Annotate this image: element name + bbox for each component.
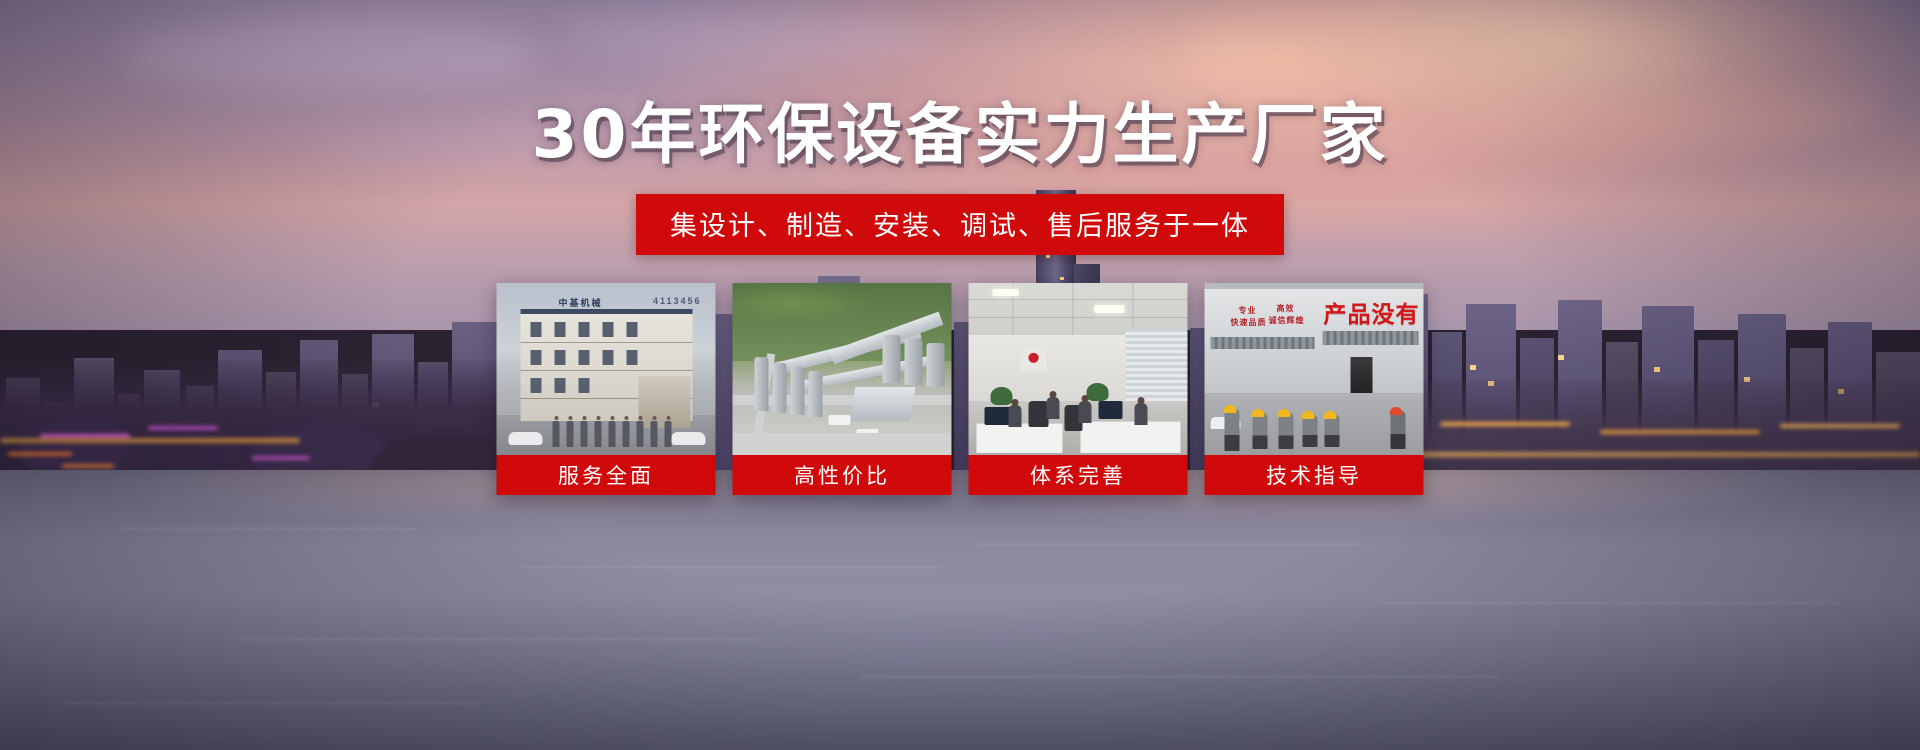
photo-factory-door (1351, 357, 1373, 393)
photo-window (603, 350, 614, 365)
photo-staff-person (609, 421, 616, 447)
feature-card[interactable]: 高性价比 (733, 283, 952, 495)
photo-window (579, 322, 590, 337)
photo-staff-person (623, 421, 630, 447)
photo-hard-hat (1302, 411, 1315, 419)
photo-wall-slogan: 快速品质 (1231, 317, 1267, 328)
photo-wall-slogan: 高效 (1277, 303, 1295, 314)
card-label: 高性价比 (733, 455, 952, 495)
photo-window (579, 378, 590, 393)
photo-desk (1081, 421, 1181, 453)
photo-window (555, 350, 566, 365)
photo-ceiling-grid (1073, 283, 1074, 335)
photo-factory-slogan: 产品没有 (1324, 295, 1420, 329)
photo-window (627, 322, 638, 337)
photo-person (1009, 405, 1022, 427)
photo-silo (883, 335, 901, 383)
photo-silo (927, 343, 945, 387)
feature-card[interactable]: 产品没有 专业 快速品质 高效 诚信辉煌 (1205, 283, 1424, 495)
photo-monitor (985, 407, 1011, 425)
photo-staff-person (553, 421, 560, 447)
photo-ceiling-grid (969, 299, 1188, 300)
photo-wall-slogan: 专业 (1239, 305, 1257, 316)
photo-floor-line (521, 370, 693, 371)
photo-window (603, 322, 614, 337)
photo-wall-decal (1021, 349, 1047, 371)
photo-car (672, 432, 706, 445)
photo-silo (905, 339, 923, 385)
hero-banner: 30年环保设备实力生产厂家 集设计、制造、安装、调试、售后服务于一体 (0, 0, 1920, 750)
feature-card-list: 中基机械 4113456 服务全面 (497, 283, 1424, 495)
photo-plant (1087, 383, 1109, 401)
photo-silo (791, 367, 805, 415)
photo-staff-person (637, 421, 644, 447)
photo-staff-person (665, 421, 672, 447)
photo-company-sign: 中基机械 (559, 296, 603, 309)
photo-hard-hat (1252, 409, 1265, 417)
photo-person (1047, 397, 1060, 419)
photo-desk (977, 423, 1063, 453)
photo-car (509, 432, 543, 445)
photo-ceiling-lamp (1095, 305, 1125, 313)
photo-silo (755, 357, 769, 411)
photo-ceiling-lamp (993, 289, 1019, 296)
photo-worker (1303, 415, 1318, 447)
photo-entrance-porch (639, 376, 691, 428)
photo-hard-hat (1224, 405, 1237, 413)
card-label: 服务全面 (497, 455, 716, 495)
photo-monitor (1099, 401, 1123, 419)
photo-worker (1391, 411, 1406, 449)
card-photo-factory-workshop: 产品没有 专业 快速品质 高效 诚信辉煌 (1205, 283, 1424, 455)
photo-window (627, 350, 638, 365)
photo-building (521, 309, 693, 421)
page-title: 30年环保设备实力生产厂家 (0, 98, 1920, 172)
photo-window (531, 378, 542, 393)
photo-window (579, 350, 590, 365)
photo-ceiling-grid (1133, 283, 1134, 335)
card-label: 技术指导 (1205, 455, 1424, 495)
photo-hard-hat (1278, 409, 1291, 417)
card-photo-aerial-industrial-plant (733, 283, 952, 455)
photo-window (555, 378, 566, 393)
photo-hard-hat (1324, 411, 1337, 419)
photo-staff-person (567, 421, 574, 447)
banner-content: 30年环保设备实力生产厂家 集设计、制造、安装、调试、售后服务于一体 (0, 0, 1920, 750)
photo-worker (1279, 413, 1294, 449)
photo-louvre-vent (1211, 337, 1315, 349)
photo-truck (829, 415, 851, 425)
photo-worker (1253, 413, 1268, 449)
photo-silo (773, 363, 787, 413)
photo-louvre-vent (1323, 331, 1419, 345)
photo-worker (1225, 409, 1240, 451)
photo-plant (991, 387, 1013, 405)
photo-floor-line (521, 342, 693, 343)
photo-window (531, 322, 542, 337)
photo-window-blinds (1126, 329, 1188, 401)
subtitle-badge: 集设计、制造、安装、调试、售后服务于一体 (636, 194, 1284, 255)
card-label: 体系完善 (969, 455, 1188, 495)
feature-card[interactable]: 中基机械 4113456 服务全面 (497, 283, 716, 495)
card-photo-company-office-building: 中基机械 4113456 (497, 283, 716, 455)
photo-window (555, 322, 566, 337)
photo-window (531, 350, 542, 365)
photo-staff-person (581, 421, 588, 447)
photo-phone-number: 4113456 (653, 296, 702, 306)
photo-chair (1029, 401, 1049, 427)
photo-staff-person (651, 421, 658, 447)
photo-ceiling-grid (969, 317, 1188, 318)
photo-wall-slogan: 诚信辉煌 (1269, 315, 1305, 326)
photo-person (1135, 403, 1148, 425)
photo-building-roof (850, 387, 916, 421)
photo-hard-hat (1390, 407, 1403, 415)
photo-staff-person (595, 421, 602, 447)
card-photo-office-interior (969, 283, 1188, 455)
photo-person (1079, 401, 1092, 423)
feature-card[interactable]: 体系完善 (969, 283, 1188, 495)
photo-silo (809, 371, 823, 417)
photo-road (733, 433, 952, 445)
photo-worker (1325, 415, 1340, 447)
